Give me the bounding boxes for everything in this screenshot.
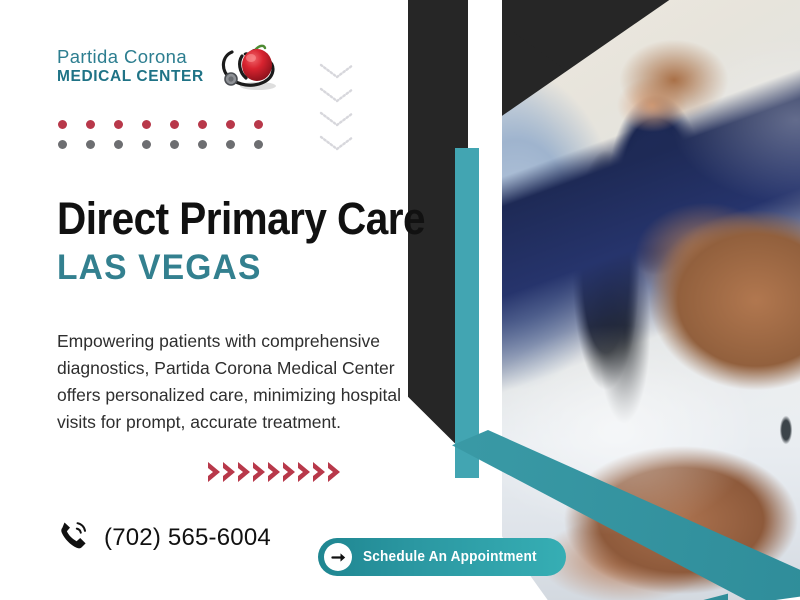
headline-block: Direct Primary Care LAS VEGAS	[57, 196, 457, 287]
white-corner-notch	[690, 552, 800, 600]
chevron-down-icon	[318, 134, 356, 152]
dot	[198, 120, 207, 129]
chevron-right-icon	[267, 460, 282, 484]
down-chevron-decoration	[318, 62, 356, 152]
brand-logo[interactable]: Partida Corona MEDICAL CENTER	[57, 38, 280, 94]
dot	[142, 120, 151, 129]
black-top-wedge	[470, 0, 800, 250]
phone-handset-icon	[58, 518, 92, 557]
content-column: Partida Corona MEDICAL CENTER	[0, 0, 470, 600]
dot	[142, 140, 151, 149]
dot	[226, 140, 235, 149]
chevron-down-icon	[318, 110, 356, 128]
phone-contact[interactable]: (702) 565-6004	[58, 518, 271, 557]
chevron-down-icon	[318, 62, 356, 80]
dot	[58, 140, 67, 149]
apple-with-stethoscope-logo-icon	[212, 38, 280, 94]
schedule-appointment-button[interactable]: Schedule An Appointment	[318, 538, 566, 576]
chevron-right-icon	[237, 460, 252, 484]
dot	[254, 140, 263, 149]
chevron-right-icon	[312, 460, 327, 484]
dot	[86, 120, 95, 129]
photo-image	[496, 0, 800, 600]
dot	[254, 120, 263, 129]
chevron-right-icon	[207, 460, 222, 484]
dot	[198, 140, 207, 149]
arrow-right-circle-icon	[324, 543, 352, 571]
page-title: Direct Primary Care	[57, 196, 417, 242]
teal-corner-wedge	[420, 0, 800, 330]
teal-corner-sliver	[688, 578, 728, 600]
logo-wordmark: Partida Corona MEDICAL CENTER	[57, 48, 204, 85]
dot	[114, 140, 123, 149]
logo-line-secondary: MEDICAL CENTER	[57, 69, 204, 85]
dot	[170, 140, 179, 149]
chevron-right-icon	[252, 460, 267, 484]
page-subtitle: LAS VEGAS	[57, 250, 441, 287]
blood-pressure-cuff-photo	[496, 0, 800, 600]
cta-button-label: Schedule An Appointment	[363, 549, 537, 565]
chevron-down-icon	[318, 86, 356, 104]
photo-soft-focus-overlay	[496, 0, 800, 600]
chevron-right-icon	[297, 460, 312, 484]
chevron-right-icon	[282, 460, 297, 484]
body-paragraph: Empowering patients with comprehensive d…	[57, 328, 429, 436]
dot	[114, 120, 123, 129]
red-chevron-decoration	[207, 460, 342, 484]
phone-number-text: (702) 565-6004	[104, 524, 271, 552]
dot	[170, 120, 179, 129]
marketing-banner: Partida Corona MEDICAL CENTER	[0, 0, 800, 600]
dot	[58, 120, 67, 129]
chevron-right-icon	[327, 460, 342, 484]
dot-grid-decoration	[58, 120, 263, 149]
dot-row-red	[58, 120, 263, 129]
white-separator-strip	[468, 0, 502, 600]
dot-row-gray	[58, 140, 263, 149]
logo-line-primary: Partida Corona	[57, 48, 204, 67]
dot	[226, 120, 235, 129]
chevron-right-icon	[222, 460, 237, 484]
dot	[86, 140, 95, 149]
